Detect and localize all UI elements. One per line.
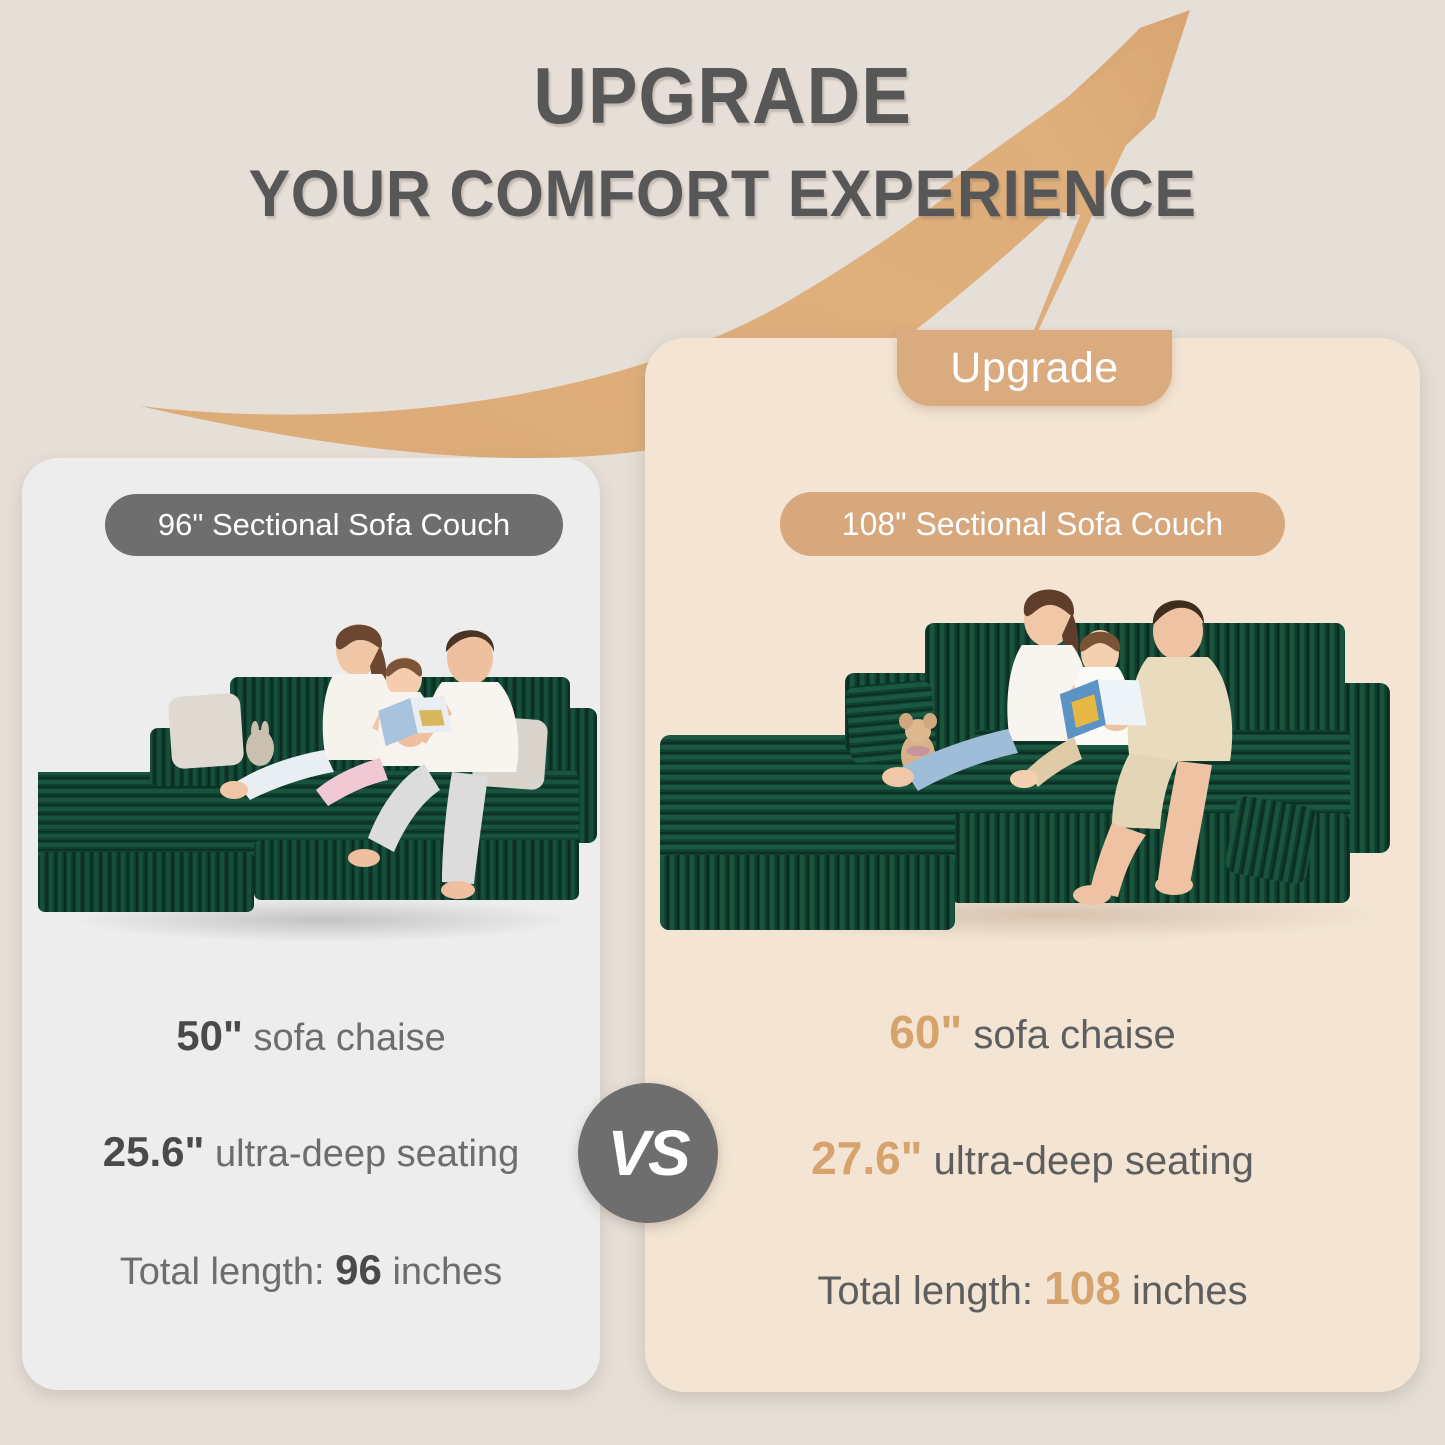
right-spec-depth-value: 27.6" (811, 1132, 922, 1184)
right-spec-depth: 27.6" ultra-deep seating (645, 1131, 1420, 1185)
versus-badge-label: VS (607, 1116, 688, 1190)
right-spec-chaise-value: 60" (889, 1006, 962, 1058)
left-spec-depth-value: 25.6" (103, 1128, 205, 1175)
left-product-badge: 96" Sectional Sofa Couch (105, 494, 563, 556)
right-spec-depth-label: ultra-deep seating (934, 1139, 1254, 1183)
left-spec-chaise-value: 50" (176, 1012, 243, 1059)
left-spec-total-prefix: Total length: (120, 1251, 325, 1293)
right-spec-total-value: 108 (1044, 1262, 1121, 1314)
left-spec-depth: 25.6" ultra-deep seating (22, 1128, 600, 1176)
right-spec-total-prefix: Total length: (817, 1269, 1033, 1313)
left-spec-total-value: 96 (335, 1246, 382, 1293)
left-spec-chaise-label: sofa chaise (253, 1017, 445, 1059)
right-product-badge-label: 108" Sectional Sofa Couch (842, 506, 1223, 543)
page-title: UPGRADE YOUR COMFORT EXPERIENCE (0, 52, 1445, 230)
right-spec-list: 60" sofa chaise 27.6" ultra-deep seating… (645, 1005, 1420, 1315)
versus-badge: VS (578, 1083, 718, 1223)
right-spec-chaise: 60" sofa chaise (645, 1005, 1420, 1059)
right-spec-total-suffix: inches (1132, 1269, 1248, 1313)
right-spec-chaise-label: sofa chaise (973, 1013, 1175, 1057)
left-spec-depth-label: ultra-deep seating (215, 1133, 519, 1175)
upgrade-tab: Upgrade (897, 330, 1172, 406)
left-product-badge-label: 96" Sectional Sofa Couch (158, 507, 510, 543)
left-spec-list: 50" sofa chaise 25.6" ultra-deep seating… (22, 1012, 600, 1294)
right-sofa-image (650, 555, 1440, 945)
left-spec-total: Total length: 96 inches (22, 1246, 600, 1294)
right-product-badge: 108" Sectional Sofa Couch (780, 492, 1285, 556)
right-spec-total: Total length: 108 inches (645, 1261, 1420, 1315)
infographic-canvas: UPGRADE YOUR COMFORT EXPERIENCE (0, 0, 1445, 1445)
headline-line-1: UPGRADE (51, 52, 1395, 140)
left-spec-total-suffix: inches (392, 1251, 502, 1293)
left-spec-chaise: 50" sofa chaise (22, 1012, 600, 1060)
headline-line-2: YOUR COMFORT EXPERIENCE (36, 156, 1409, 230)
upgrade-tab-label: Upgrade (950, 344, 1118, 393)
left-sofa-image (22, 600, 622, 945)
